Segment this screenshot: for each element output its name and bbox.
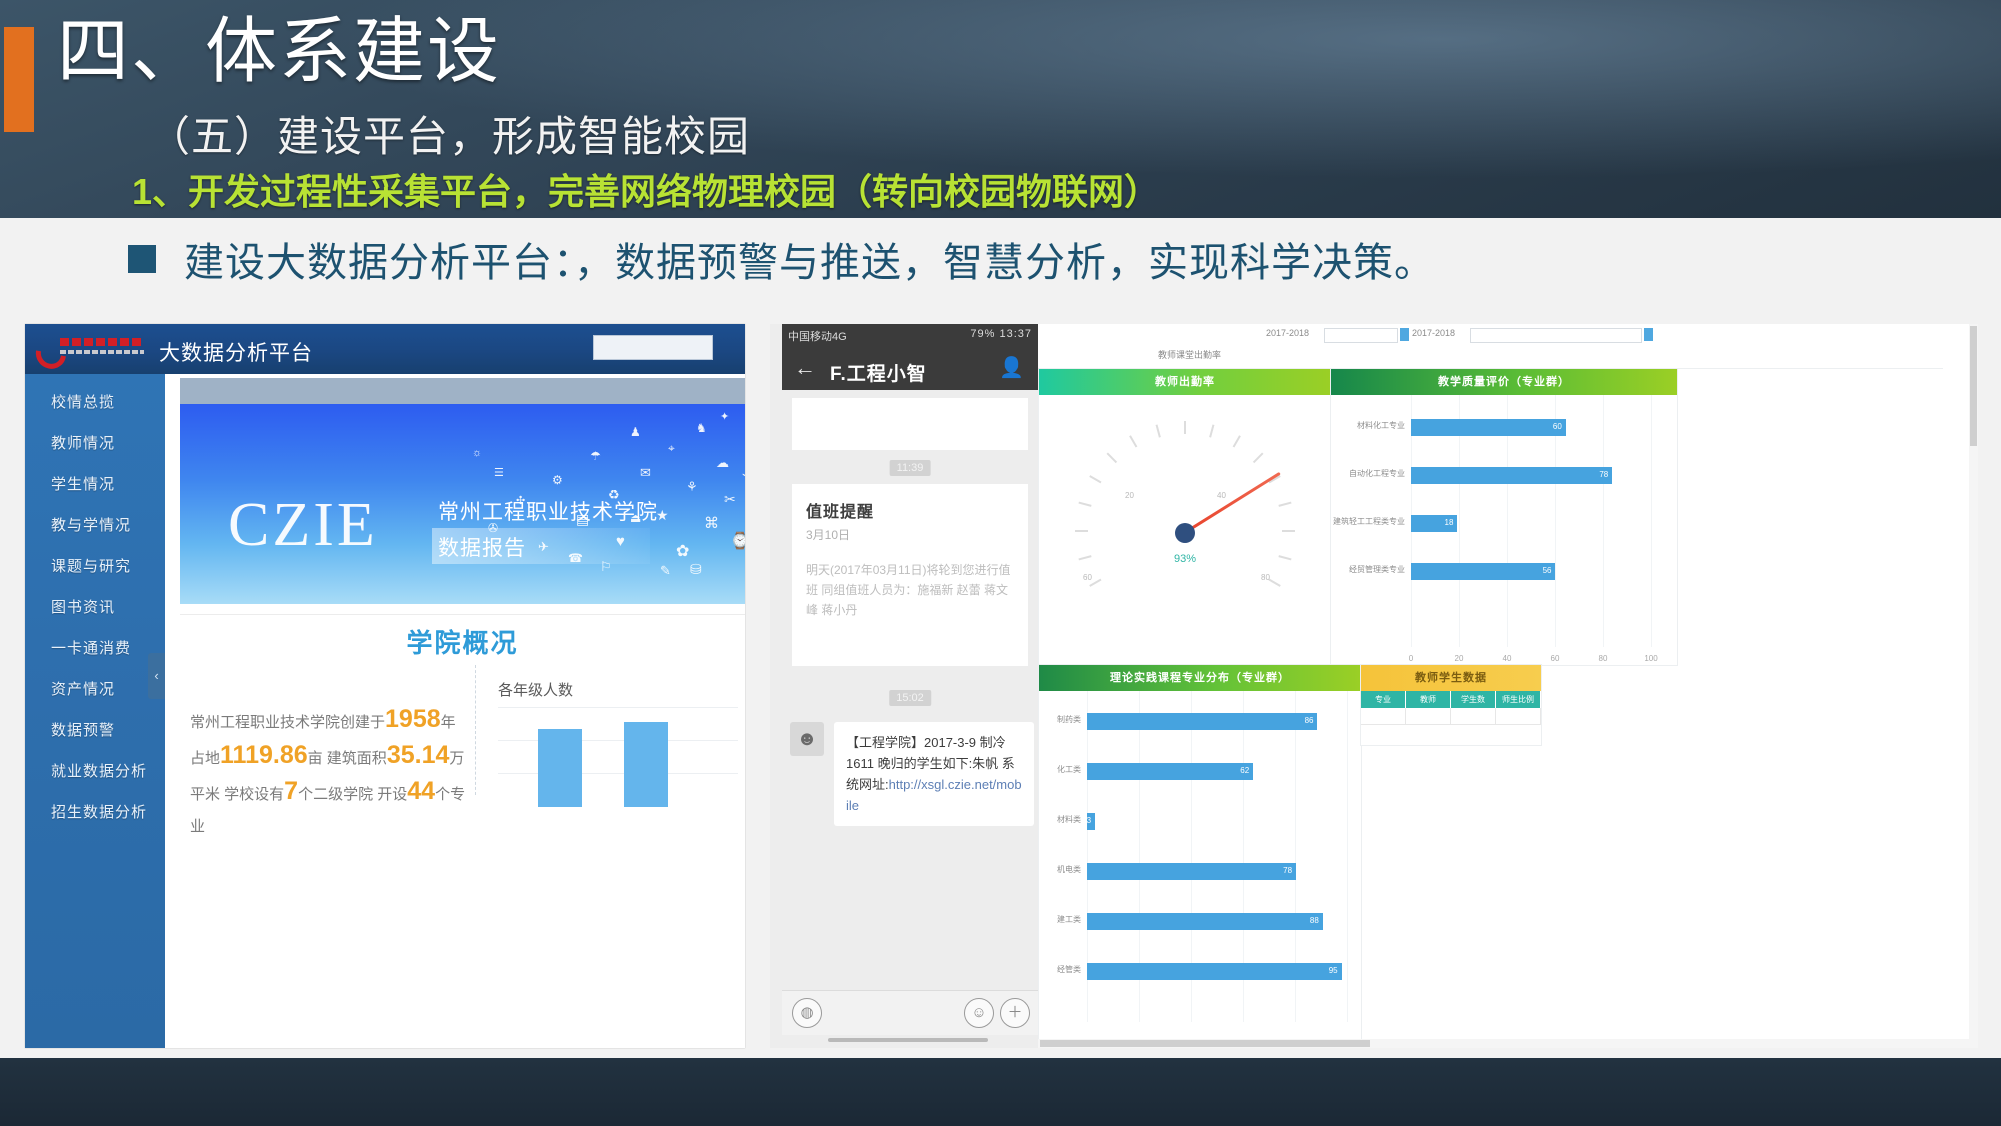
- gauge-tick-80: 80: [1261, 573, 1270, 582]
- title-band: 四、体系建设 （五）建设平台，形成智能校园 1、开发过程性采集平台，完善网络物理…: [0, 0, 2001, 218]
- bullet-square-icon: [128, 245, 156, 273]
- bar-row: 化工类 62: [1039, 761, 1361, 783]
- bi-filter-bar: 2017-2018 2017-2018 教师课堂出勤率: [1038, 324, 1943, 369]
- panel-table: 教师学生数据 专业 教师 学生数 师生比例: [1360, 664, 1542, 746]
- emoji-icon[interactable]: ☺: [964, 998, 994, 1028]
- bar-row: 建工类 88: [1039, 911, 1361, 933]
- gauge-value: 93%: [1174, 553, 1196, 565]
- bar-row: 经管类 95: [1039, 961, 1361, 983]
- grade-chart-title: 各年级人数: [498, 679, 573, 700]
- bar-row: 机电类 78: [1039, 861, 1361, 883]
- quality-bar-chart: 材料化工专业 60 自动化工程专业 78 建筑轻工工程类专业 18 经贸管理类专…: [1331, 395, 1677, 665]
- profile-icon[interactable]: 👤: [999, 357, 1024, 379]
- screenshot-phone: 中国移动4G 79% 13:37 ← F.工程小智 👤 11:39 值班提醒 3…: [770, 324, 1038, 1048]
- school-logo-icon: [36, 335, 148, 363]
- para-text-1: 常州工程职业技术学院创建于: [190, 714, 385, 731]
- bar-value: 3: [1087, 816, 1091, 825]
- bar-label: 材料化工专业: [1333, 420, 1405, 431]
- bar-value: 86: [1305, 716, 1314, 725]
- table-row[interactable]: [1361, 708, 1541, 725]
- col-teacher: 教师: [1406, 691, 1451, 708]
- dashboard-app-title: 大数据分析平台: [159, 337, 313, 367]
- panel-gauge: 教师出勤率 20 40 60 80 93%: [1038, 368, 1332, 666]
- sidebar-item-research[interactable]: 课题与研究: [25, 546, 165, 587]
- sidebar-item-students[interactable]: 学生情况: [25, 464, 165, 505]
- chat-bubble[interactable]: 【工程学院】2017-3-9 制冷1611 晚归的学生如下:朱帆 系统网址:ht…: [834, 722, 1034, 826]
- gauge-tick-20: 20: [1125, 491, 1134, 500]
- panel-quality-bars: 教学质量评价（专业群） 材料化工专业 60 自动化工程专业 78 建筑轻工工程类…: [1330, 368, 1678, 666]
- voice-icon[interactable]: ◍: [792, 998, 822, 1028]
- bar-grade-2: [624, 722, 668, 807]
- sidebar-item-card[interactable]: 一卡通消费: [25, 628, 165, 669]
- avatar[interactable]: ☻: [790, 722, 824, 756]
- bi-vscrollbar[interactable]: [1969, 324, 1978, 1048]
- gauge-tick-60: 60: [1083, 573, 1092, 582]
- content-toolbar: [180, 378, 745, 404]
- screenshot-bi: 2017-2018 2017-2018 教师课堂出勤率 教师出勤率: [1038, 324, 1978, 1048]
- bar-row: 材料化工专业 60: [1331, 417, 1677, 439]
- slide-root: 四、体系建设 （五）建设平台，形成智能校园 1、开发过程性采集平台，完善网络物理…: [0, 0, 2001, 1126]
- bar-label: 机电类: [1041, 864, 1081, 875]
- para-text-3: 亩 建筑面积: [308, 750, 387, 767]
- notice-body: 明天(2017年03月11日)将轮到您进行值班 同组值班人员为：施福新 赵蕾 蒋…: [806, 560, 1018, 620]
- page-subtitle: （五）建设平台，形成智能校园: [148, 103, 750, 164]
- phone-nav-bar: ← F.工程小智 👤: [782, 346, 1038, 390]
- footer-band: [0, 1058, 2001, 1126]
- table-header-row: 专业 教师 学生数 师生比例: [1361, 691, 1541, 708]
- stat-area-mu: 1119.86: [220, 741, 308, 769]
- chat-timestamp-2: 15:02: [889, 690, 931, 706]
- bar-label: 经管类: [1041, 964, 1081, 975]
- filter-sub-label: 教师课堂出勤率: [1158, 348, 1221, 361]
- bar-value: 60: [1553, 422, 1562, 431]
- decorative-icon-cloud: ✇ ✣ ✈ ⚙ ▤ ☂ ♻ ♥ ♟ ✉ ★ ⌖ ✿ ⚘ ♞ ⌘ ☁: [480, 404, 745, 579]
- x-tick: 60: [1551, 654, 1560, 663]
- banner-acronym: CZIE: [228, 490, 378, 561]
- x-tick: 100: [1644, 654, 1657, 663]
- back-arrow-icon[interactable]: ←: [794, 357, 816, 379]
- filter-tag-icon[interactable]: [1400, 328, 1409, 341]
- page-title: 四、体系建设: [57, 16, 501, 88]
- section-divider: [475, 665, 476, 795]
- bar-label: 建筑轻工工程类专业: [1333, 516, 1405, 527]
- sidebar-collapse-icon[interactable]: ‹: [148, 653, 165, 699]
- filter-value-2: 2017-2018: [1412, 328, 1455, 338]
- grade-bar-chart: [498, 707, 738, 807]
- sidebar-item-admission[interactable]: 招生数据分析: [25, 792, 165, 833]
- status-carrier: 中国移动4G: [788, 328, 847, 344]
- bar-label: 建工类: [1041, 914, 1081, 925]
- bar-row: 材料类 3: [1039, 811, 1361, 833]
- gauge-chart: 20 40 60 80 93%: [1039, 395, 1331, 603]
- chat-scroll-area[interactable]: 11:39 值班提醒 3月10日 明天(2017年03月11日)将轮到您进行值班…: [782, 390, 1038, 990]
- notice-date: 3月10日: [806, 526, 850, 543]
- sidebar-item-overview[interactable]: 校情总揽: [25, 382, 165, 423]
- bar-value: 78: [1599, 470, 1608, 479]
- screenshot-dashboard: 大数据分析平台 校情总揽 教师情况 学生情况 教与学情况 课题与研究 图书资讯 …: [25, 324, 745, 1048]
- bar-row: 经贸管理类专业 56: [1331, 561, 1677, 583]
- bi-table: 专业 教师 学生数 师生比例: [1361, 691, 1541, 725]
- bar-label: 经贸管理类专业: [1333, 564, 1405, 575]
- x-tick: 20: [1455, 654, 1464, 663]
- panel-course-bars: 理论实践课程专业分布（专业群） 制药类 86 化工类 62 材料类 3: [1038, 664, 1362, 1041]
- notice-title: 值班提醒: [806, 498, 874, 522]
- highlight-line: 1、开发过程性采集平台，完善网络物理校园（转向校园物联网）: [132, 163, 1160, 215]
- report-banner: CZIE 常州工程职业技术学院 数据报告 ✇ ✣ ✈ ⚙ ▤ ☂ ♻ ♥ ♟ ✉…: [180, 404, 745, 604]
- overview-paragraph: 常州工程职业技术学院创建于1958年 占地1119.86亩 建筑面积35.14万…: [190, 703, 470, 843]
- bar-value: 62: [1240, 766, 1249, 775]
- sidebar-item-assets[interactable]: 资产情况: [25, 669, 165, 710]
- bullet-row: 建设大数据分析平台：，数据预警与推送，智慧分析，实现科学决策。: [128, 230, 1435, 288]
- bar-label: 自动化工程专业: [1333, 468, 1405, 479]
- bar-value: 18: [1445, 518, 1454, 527]
- bar-value: 78: [1283, 866, 1292, 875]
- bar-label: 制药类: [1041, 714, 1081, 725]
- col-students: 学生数: [1451, 691, 1496, 708]
- overview-title: 学院概况: [180, 623, 745, 660]
- chat-card-partial[interactable]: [792, 398, 1028, 450]
- course-bar-chart: 制药类 86 化工类 62 材料类 3 机电类 78 建工类 88: [1039, 691, 1361, 1040]
- gauge-tick-40: 40: [1217, 491, 1226, 500]
- filter-value-1: 2017-2018: [1266, 328, 1309, 338]
- dashboard-search-input[interactable]: [593, 335, 713, 360]
- sidebar-item-teaching[interactable]: 教与学情况: [25, 505, 165, 546]
- orange-accent-bar: [4, 27, 34, 132]
- filter-input-1[interactable]: [1324, 328, 1398, 343]
- duty-notice-card[interactable]: 值班提醒 3月10日 明天(2017年03月11日)将轮到您进行值班 同组值班人…: [792, 484, 1028, 666]
- phone-status-bar: 中国移动4G 79% 13:37: [782, 324, 1038, 346]
- dashboard-sidebar: 校情总揽 教师情况 学生情况 教与学情况 课题与研究 图书资讯 一卡通消费 资产…: [25, 374, 165, 1048]
- bar-row: 自动化工程专业 78: [1331, 465, 1677, 487]
- plus-icon[interactable]: ＋: [1000, 998, 1030, 1028]
- sidebar-item-library[interactable]: 图书资讯: [25, 587, 165, 628]
- col-major: 专业: [1361, 691, 1406, 708]
- filter-tag-icon-2[interactable]: [1644, 328, 1653, 341]
- bar-row: 制药类 86: [1039, 711, 1361, 733]
- chat-title: F.工程小智: [830, 359, 927, 386]
- overview-section: 学院概况 常州工程职业技术学院创建于1958年 占地1119.86亩 建筑面积3…: [180, 614, 745, 805]
- gauge-hub: [1175, 523, 1195, 543]
- bar-value: 95: [1329, 966, 1338, 975]
- phone-home-indicator: [828, 1038, 988, 1042]
- filter-input-2[interactable]: [1470, 328, 1642, 343]
- stat-year: 1958: [385, 705, 441, 733]
- dashboard-header: 大数据分析平台: [25, 324, 745, 374]
- col-ratio: 师生比例: [1496, 691, 1541, 708]
- stat-majors: 44: [407, 777, 435, 805]
- panel-course-title: 理论实践课程专业分布（专业群）: [1039, 665, 1361, 691]
- panel-quality-title: 教学质量评价（专业群）: [1331, 369, 1677, 395]
- x-tick: 0: [1409, 654, 1413, 663]
- sidebar-item-alerts[interactable]: 数据预警: [25, 710, 165, 751]
- stat-floor-area: 35.14: [387, 741, 450, 769]
- sidebar-item-teachers[interactable]: 教师情况: [25, 423, 165, 464]
- bar-value: 88: [1310, 916, 1319, 925]
- x-tick: 80: [1599, 654, 1608, 663]
- sidebar-item-employment[interactable]: 就业数据分析: [25, 751, 165, 792]
- status-indicators: 79% 13:37: [970, 328, 1032, 340]
- bar-value: 56: [1543, 566, 1552, 575]
- bar-row: 建筑轻工工程类专业 18: [1331, 513, 1677, 535]
- chat-timestamp-1: 11:39: [890, 460, 931, 476]
- bar-grade-1: [538, 729, 582, 807]
- para-text-5: 个二级学院 开设: [298, 786, 407, 803]
- x-tick: 40: [1503, 654, 1512, 663]
- dashboard-content: CZIE 常州工程职业技术学院 数据报告 ✇ ✣ ✈ ⚙ ▤ ☂ ♻ ♥ ♟ ✉…: [165, 374, 745, 1048]
- bullet-text: 建设大数据分析平台：，数据预警与推送，智慧分析，实现科学决策。: [184, 230, 1435, 288]
- dashboard-nav: 校情总揽 教师情况 学生情况 教与学情况 课题与研究 图书资讯 一卡通消费 资产…: [25, 382, 165, 833]
- bi-hscrollbar[interactable]: [1038, 1039, 1969, 1048]
- panel-table-title: 教师学生数据: [1361, 665, 1541, 691]
- bar-label: 材料类: [1041, 814, 1081, 825]
- chat-input-bar: ◍ ☺ ＋: [782, 990, 1038, 1035]
- stat-colleges: 7: [284, 777, 298, 805]
- panel-gauge-title: 教师出勤率: [1039, 369, 1331, 395]
- bar-label: 化工类: [1041, 764, 1081, 775]
